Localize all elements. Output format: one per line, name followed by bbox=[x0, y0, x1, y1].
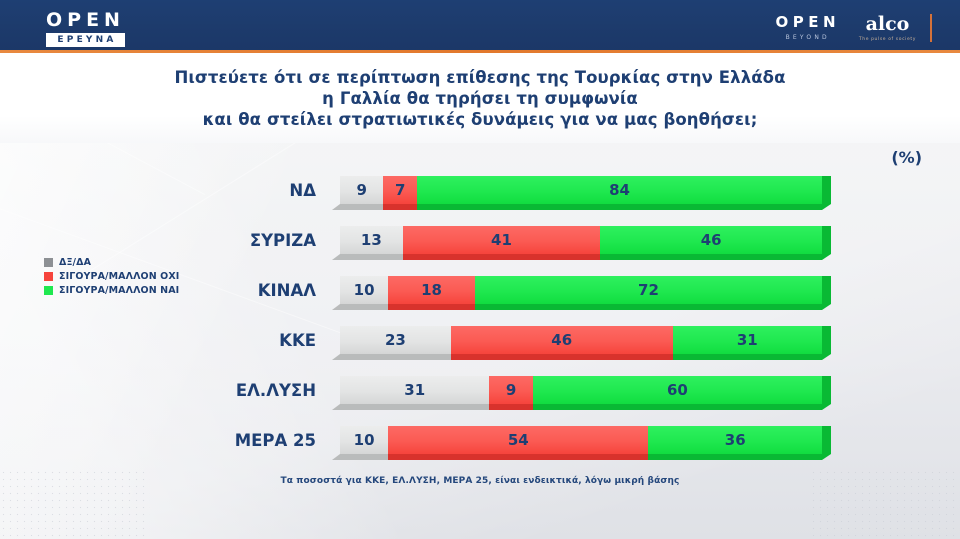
bar-end-cap bbox=[822, 276, 831, 310]
header-bar: OPEN EPEYNA OPEN BEYOND alco The pulse o… bbox=[0, 0, 960, 53]
stacked-bar[interactable]: 234631 bbox=[340, 326, 822, 360]
chart-footnote: Τα ποσοστά για ΚΚΕ, ΕΛ.ΛΥΣΗ, ΜΕΡΑ 25, εί… bbox=[0, 476, 960, 486]
bar-row-label: ΕΛ.ΛΥΣΗ bbox=[0, 381, 328, 400]
bar-segment-bevel bbox=[451, 354, 673, 360]
bar-left-bevel bbox=[332, 404, 340, 410]
bar-segment-no[interactable]: 46 bbox=[451, 326, 673, 354]
stacked-bar[interactable]: 9784 bbox=[340, 176, 822, 210]
bar-segment-bevel bbox=[403, 254, 601, 260]
bar-value-label: 23 bbox=[385, 331, 406, 349]
title-line-3: και θα στείλει στρατιωτικές δυνάμεις για… bbox=[203, 109, 758, 130]
alco-logo: alco The pulse of society bbox=[859, 15, 916, 43]
bar-row-label: ΝΔ bbox=[0, 181, 328, 200]
bar-value-label: 31 bbox=[737, 331, 758, 349]
bar-segment-yes[interactable]: 46 bbox=[600, 226, 822, 254]
bar-value-label: 46 bbox=[701, 231, 722, 249]
bar-end-cap bbox=[822, 426, 831, 460]
bar-segment-dk[interactable]: 10 bbox=[340, 276, 388, 304]
bar-segment-yes[interactable]: 31 bbox=[673, 326, 822, 354]
bar-row-label: ΜΕΡΑ 25 bbox=[0, 431, 328, 450]
bar-value-label: 46 bbox=[551, 331, 572, 349]
bar-value-label: 36 bbox=[725, 431, 746, 449]
bar-value-label: 13 bbox=[361, 231, 382, 249]
bar-segment-bevel bbox=[648, 454, 822, 460]
bar-segment-no[interactable]: 18 bbox=[388, 276, 475, 304]
bar-segment-bevel bbox=[340, 204, 383, 210]
bar-row: ΣΥΡΙΖΑ134146 bbox=[0, 226, 960, 260]
bar-end-cap bbox=[822, 326, 831, 360]
bar-segment-dk[interactable]: 9 bbox=[340, 176, 383, 204]
bar-value-label: 9 bbox=[356, 181, 366, 199]
bar-value-label: 31 bbox=[404, 381, 425, 399]
bar-value-label: 10 bbox=[354, 431, 375, 449]
bar-segment-no[interactable]: 9 bbox=[489, 376, 532, 404]
bar-value-label: 18 bbox=[421, 281, 442, 299]
bar-value-label: 84 bbox=[609, 181, 630, 199]
bar-segment-no[interactable]: 54 bbox=[388, 426, 648, 454]
bar-value-label: 41 bbox=[491, 231, 512, 249]
bar-segment-bevel bbox=[383, 204, 417, 210]
ereyna-badge: EPEYNA bbox=[46, 33, 125, 47]
open-beyond-wordmark: OPEN bbox=[775, 14, 840, 30]
bar-segment-bevel bbox=[489, 404, 532, 410]
bar-row-label: ΚΚΕ bbox=[0, 331, 328, 350]
beyond-subtitle: BEYOND bbox=[775, 33, 840, 42]
bar-segment-dk[interactable]: 31 bbox=[340, 376, 489, 404]
bar-left-bevel bbox=[332, 254, 340, 260]
bar-value-label: 54 bbox=[508, 431, 529, 449]
bar-value-label: 60 bbox=[667, 381, 688, 399]
bar-segment-bevel bbox=[340, 254, 403, 260]
bar-row-label: ΣΥΡΙΖΑ bbox=[0, 231, 328, 250]
title-line-1: Πιστεύετε ότι σε περίπτωση επίθεσης της … bbox=[174, 67, 785, 88]
alco-tagline: The pulse of society bbox=[859, 36, 916, 43]
chart-canvas: (%) ΔΞ/ΔΑΣΙΓΟΥΡΑ/ΜΑΛΛΟΝ ΟΧΙΣΙΓΟΥΡΑ/ΜΑΛΛΟ… bbox=[0, 143, 960, 539]
bar-end-cap bbox=[822, 376, 831, 410]
bar-left-bevel bbox=[332, 204, 340, 210]
bar-end-cap bbox=[822, 226, 831, 260]
bar-segment-dk[interactable]: 10 bbox=[340, 426, 388, 454]
stacked-bar[interactable]: 105436 bbox=[340, 426, 822, 460]
bar-row: ΜΕΡΑ 25105436 bbox=[0, 426, 960, 460]
bar-value-label: 7 bbox=[395, 181, 405, 199]
open-wordmark: OPEN bbox=[46, 11, 125, 30]
open-beyond-logo: OPEN BEYOND bbox=[775, 14, 840, 42]
bar-segment-bevel bbox=[475, 304, 822, 310]
bar-segment-yes[interactable]: 36 bbox=[648, 426, 822, 454]
header-divider-rule bbox=[930, 14, 932, 42]
bar-segment-dk[interactable]: 13 bbox=[340, 226, 403, 254]
bar-left-bevel bbox=[332, 454, 340, 460]
bar-segment-bevel bbox=[340, 454, 388, 460]
bar-segment-bevel bbox=[533, 404, 822, 410]
bar-segment-yes[interactable]: 72 bbox=[475, 276, 822, 304]
bar-segment-dk[interactable]: 23 bbox=[340, 326, 451, 354]
bar-value-label: 72 bbox=[638, 281, 659, 299]
bar-segment-bevel bbox=[340, 354, 451, 360]
bar-segment-bevel bbox=[388, 304, 475, 310]
bar-row: ΕΛ.ΛΥΣΗ31960 bbox=[0, 376, 960, 410]
bar-value-label: 10 bbox=[354, 281, 375, 299]
bar-segment-bevel bbox=[340, 304, 388, 310]
title-line-2: η Γαλλία θα τηρήσει τη συμφωνία bbox=[322, 88, 638, 109]
bar-left-bevel bbox=[332, 304, 340, 310]
bar-segment-no[interactable]: 41 bbox=[403, 226, 601, 254]
bar-row: ΚΚΕ234631 bbox=[0, 326, 960, 360]
bar-segment-yes[interactable]: 60 bbox=[533, 376, 822, 404]
bar-row: ΚΙΝΑΛ101872 bbox=[0, 276, 960, 310]
stacked-bar[interactable]: 101872 bbox=[340, 276, 822, 310]
bar-segment-bevel bbox=[673, 354, 822, 360]
bar-row-label: ΚΙΝΑΛ bbox=[0, 281, 328, 300]
alco-wordmark: alco bbox=[859, 15, 916, 34]
bar-segment-bevel bbox=[340, 404, 489, 410]
stacked-bar[interactable]: 134146 bbox=[340, 226, 822, 260]
bar-left-bevel bbox=[332, 354, 340, 360]
bar-value-label: 9 bbox=[506, 381, 516, 399]
bar-end-cap bbox=[822, 176, 831, 210]
open-ereyna-logo: OPEN EPEYNA bbox=[46, 11, 125, 47]
bar-segment-bevel bbox=[417, 204, 822, 210]
bar-row: ΝΔ9784 bbox=[0, 176, 960, 210]
bar-segment-no[interactable]: 7 bbox=[383, 176, 417, 204]
bar-segment-yes[interactable]: 84 bbox=[417, 176, 822, 204]
bar-segment-bevel bbox=[388, 454, 648, 460]
question-title: Πιστεύετε ότι σε περίπτωση επίθεσης της … bbox=[0, 53, 960, 143]
bar-segment-bevel bbox=[600, 254, 822, 260]
stacked-bar[interactable]: 31960 bbox=[340, 376, 822, 410]
